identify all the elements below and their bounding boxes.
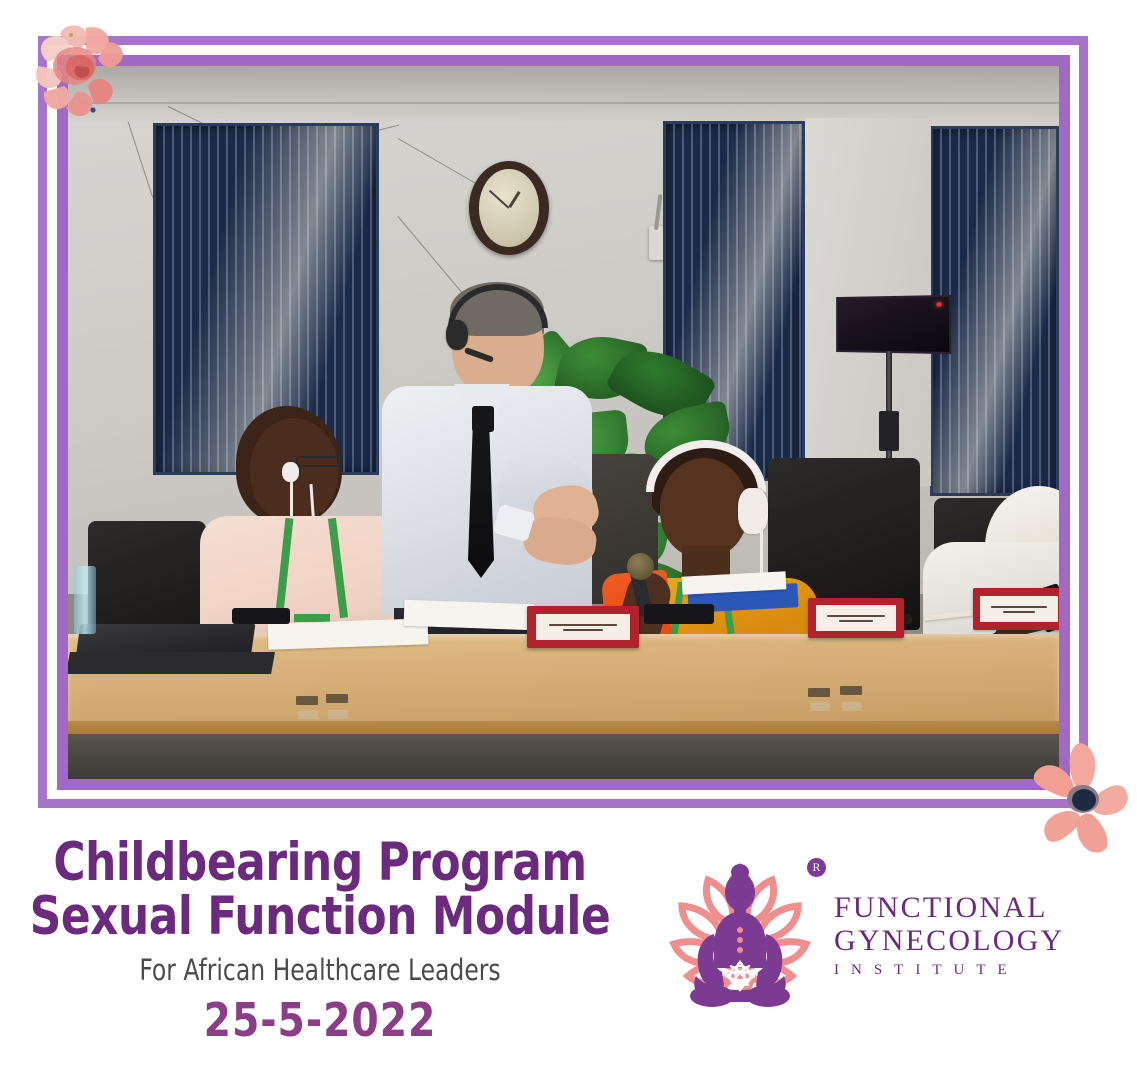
logo-line-3: INSTITUTE xyxy=(834,959,1064,981)
monitor-power-led xyxy=(936,302,941,306)
registered-trademark-icon: R xyxy=(807,858,826,877)
title-line-1: Childbearing Program xyxy=(26,836,615,890)
clock-hand-minute xyxy=(489,190,510,209)
laptop-base xyxy=(68,652,275,674)
top-left-flower-decoration xyxy=(30,22,140,134)
tripod-clamp xyxy=(879,411,899,451)
nameplate-far-right-line-2 xyxy=(1003,611,1035,613)
nameplate-right-inner xyxy=(816,605,897,631)
event-photo xyxy=(68,66,1059,779)
caption-date: 25-5-2022 xyxy=(16,994,624,1046)
photo-ceiling-line xyxy=(68,102,1059,104)
center-headphone-cup-right xyxy=(738,488,768,534)
panel-slot-a xyxy=(296,696,318,705)
papers-center xyxy=(404,600,535,631)
center-headphone-band xyxy=(646,440,766,492)
title-line-2: Sexual Function Module xyxy=(26,890,615,944)
nameplate-far-right xyxy=(973,588,1059,630)
nameplate-center-line-1 xyxy=(549,624,617,626)
window-far-right-glare xyxy=(933,129,1056,493)
caption-subtitle: For African Healthcare Leaders xyxy=(32,952,608,988)
poster-canvas: Childbearing Program Sexual Function Mod… xyxy=(0,0,1137,1079)
table-front-panel xyxy=(68,734,1059,779)
caption-block: Childbearing Program Sexual Function Mod… xyxy=(0,836,640,1046)
nameplate-right-line-1 xyxy=(827,615,885,617)
tablet-on-table xyxy=(644,604,714,624)
wall-clock xyxy=(469,161,549,255)
phone-on-table xyxy=(232,608,290,624)
logo-line-1: FUNCTIONAL xyxy=(834,891,1064,924)
nameplate-center xyxy=(527,606,639,648)
panel-lite-d xyxy=(842,702,862,711)
nameplate-far-right-inner xyxy=(980,596,1057,623)
presenter-tie-body xyxy=(468,428,494,578)
nameplate-right-line-2 xyxy=(839,620,873,622)
panel-lite-b xyxy=(328,710,348,719)
logo-wordmark: FUNCTIONAL GYNECOLOGY INSTITUTE xyxy=(834,885,1064,981)
logo-line-2: GYNECOLOGY xyxy=(834,924,1064,957)
photo-ceiling-shadow xyxy=(68,66,1059,123)
panel-slot-d xyxy=(840,686,862,695)
tv-monitor xyxy=(836,295,951,354)
bottom-right-flower-decoration xyxy=(1017,737,1137,861)
organization-logo: R xyxy=(660,845,1080,1020)
clock-face xyxy=(479,169,538,246)
nameplate-center-line-2 xyxy=(563,629,603,631)
headset-cup xyxy=(446,320,468,350)
nameplate-far-right-line-1 xyxy=(991,606,1047,608)
panel-lite-c xyxy=(810,702,830,711)
clock-hand-hour xyxy=(508,191,520,208)
panel-slot-c xyxy=(808,688,830,697)
panel-slot-b xyxy=(326,694,348,703)
nameplate-center-inner xyxy=(536,614,630,641)
water-bottle xyxy=(74,566,96,634)
earbud-left xyxy=(282,462,299,482)
microphone-head xyxy=(627,553,654,580)
panel-lite-a xyxy=(298,710,318,719)
nameplate-right xyxy=(808,598,904,638)
lotus-figure-logo-mark: R xyxy=(660,850,820,1015)
